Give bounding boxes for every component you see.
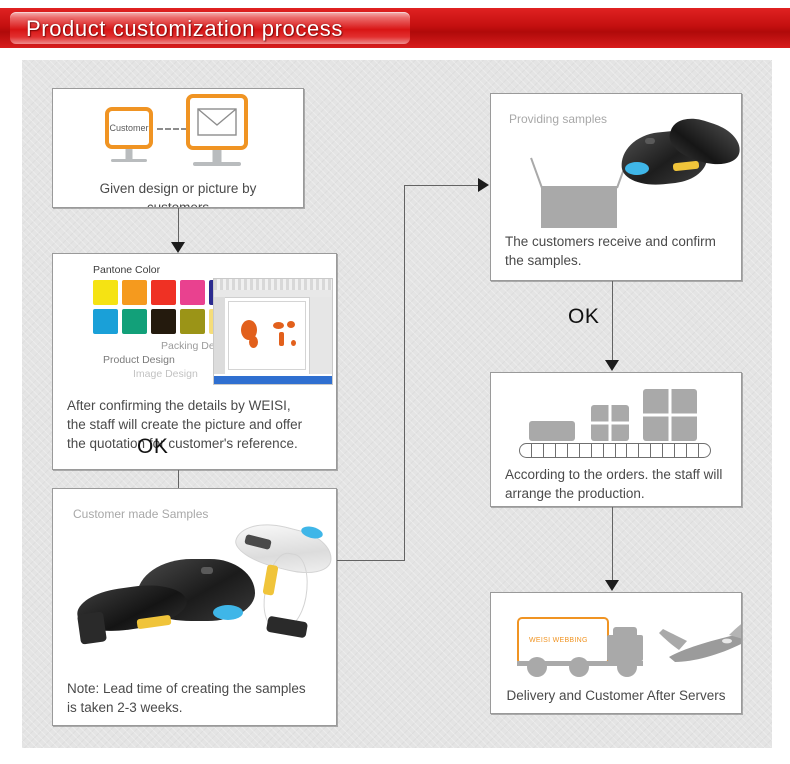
node-production[interactable]: According to the orders. the staff will … [490,372,742,507]
header-banner: Product customization process [0,8,790,48]
swatch [93,309,118,334]
monitor-customer-screen: Customer [105,107,153,149]
artwork-blot [249,336,258,348]
belt-segment [604,444,616,457]
conn-1-2-line [178,208,179,244]
artwork-blot [291,340,296,346]
monitor-customer: Customer [105,107,153,149]
flowchart-panel: Customer Given design or picture by cust… [22,60,772,748]
swatch [180,309,205,334]
screenshot-tool-palette [214,297,225,374]
carton-body [541,186,617,228]
black-scanner-foot [77,611,107,644]
page-title: Product customization process [26,17,343,41]
belt-segment [687,444,699,457]
belt-segment [639,444,651,457]
truck-cab-roof [613,627,637,637]
black-scanner-window [201,567,213,574]
belt-segment [520,444,532,457]
artwork-blot [273,322,284,329]
white-scanner-foot [266,616,308,639]
conn-3-4-seg-h1 [337,560,405,561]
conn-4-5-arrow [605,360,619,371]
node-samples-provided-line-1: The customers receive and confirm [491,232,741,251]
sample-scanner [617,116,737,204]
belt-segment [568,444,580,457]
conn-2-3-ok-label: OK [137,435,168,459]
node-samples-made-title: Customer made Samples [73,505,336,524]
truck-wheel-rear [527,657,547,677]
screenshot-side-panel [309,297,332,374]
truck-chassis [517,661,643,666]
belt-segment [592,444,604,457]
carton-flap-left [530,158,543,189]
swatch [122,280,147,305]
design-label-image: Image Design [133,368,198,380]
node-design-confirm-line-1: After confirming the details by WEISI, [53,396,336,415]
design-software-screenshot [213,278,333,385]
monitor-mail-screen [186,94,248,150]
conn-5-6-arrow [605,580,619,591]
belt-segment [532,444,544,457]
belt-segment [699,444,710,457]
node-delivery-caption: Delivery and Customer After Servers [491,686,741,705]
screenshot-canvas [228,301,306,370]
airplane-icon [657,615,742,667]
black-scanner [75,549,255,659]
belt-segment [627,444,639,457]
white-scanner [231,523,337,643]
monitor-customer-base [111,159,147,162]
node-delivery[interactable]: WEISI WEBBING Delivery and Customer Afte… [490,592,742,714]
node-design-input[interactable]: Customer Given design or picture by cust… [52,88,304,208]
conn-4-5-line [612,281,613,363]
node-samples-made[interactable]: Customer made Samples Note: Lead time of… [52,488,337,726]
sample-scanner-window [645,138,655,144]
conveyor-belt [519,443,711,458]
truck-wheel-mid [569,657,589,677]
artwork-blot [279,332,284,346]
swatch [151,309,176,334]
node-design-confirm-line-3: the quotation for customer's reference. [53,434,336,453]
monitor-mail [186,94,248,150]
belt-segment [651,444,663,457]
envelope-icon [197,108,237,136]
package-medium [591,405,629,441]
dashed-connector [157,128,187,130]
node-design-confirm[interactable]: Pantone Color Packing Design Product Des… [52,253,337,470]
node-samples-provided[interactable]: Providing samples The customers receive … [490,93,742,281]
swatch [122,309,147,334]
node-samples-provided-line-2: the samples. [491,251,741,270]
monitor-customer-label: Customer [109,123,148,133]
swatch [93,280,118,305]
conn-3-4-seg-h2 [404,185,480,186]
conn-3-4-seg-v [404,185,405,560]
node-production-line-1: According to the orders. the staff will [491,465,741,484]
delivery-truck: WEISI WEBBING [517,617,657,683]
conn-3-4-arrow [478,178,489,192]
screenshot-statusbar [214,376,332,384]
swatch [180,280,205,305]
node-design-confirm-line-2: the staff will create the picture and of… [53,415,336,434]
belt-segment [544,444,556,457]
belt-segment [675,444,687,457]
conn-4-5-ok-label: OK [568,305,599,329]
sample-scanner-button [625,162,649,175]
swatch [151,280,176,305]
open-carton [531,154,631,229]
pantone-title: Pantone Color [93,264,160,276]
belt-segment [663,444,675,457]
node-samples-made-line-2: is taken 2-3 weeks. [53,698,336,717]
belt-segment [616,444,628,457]
node-design-input-caption: Given design or picture by customers [53,179,303,208]
package-large [643,389,697,441]
node-production-line-2: arrange the production. [491,484,741,503]
conn-1-2-arrow [171,242,185,253]
package-small [529,421,575,441]
conn-5-6-line [612,507,613,583]
node-samples-made-line-1: Note: Lead time of creating the samples [53,679,336,698]
belt-segment [580,444,592,457]
belt-segment [556,444,568,457]
truck-wheel-front [617,657,637,677]
design-label-product: Product Design [103,354,175,366]
truck-brand-label: WEISI WEBBING [529,637,588,644]
artwork-blot [287,321,295,328]
monitor-mail-base [193,162,241,166]
